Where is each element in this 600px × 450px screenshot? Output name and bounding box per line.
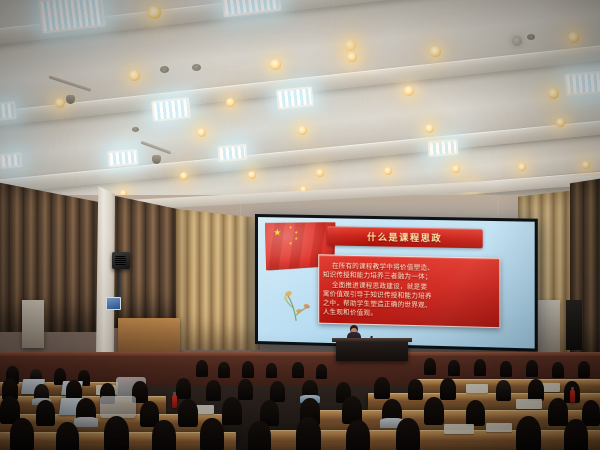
ceiling-downlight [129,70,140,81]
floral-sprig-icon [269,279,323,323]
audience-member [552,362,564,378]
lectern-top-edge [332,338,412,342]
projection-screen[interactable]: ★ ★ ★ ★ ★ 什么是课程思政 在所有的课程教学中将价值塑造、 知识 [255,214,538,352]
audience-member [270,381,285,402]
ceiling-downlight [226,98,235,107]
audience-member [564,419,588,450]
ceiling-downlight [384,167,392,175]
ceiling-downlight [345,40,356,51]
paper-sheet [486,423,512,432]
audience-member [526,360,538,377]
ceiling-panel-light [564,70,600,96]
flag-star-small: ★ [289,241,293,245]
ceiling-downlight [404,86,414,96]
ceiling-downlight [270,59,281,70]
ceiling-panel-light [276,86,314,110]
stage-right-speaker [566,300,582,350]
flag-star-large: ★ [273,228,281,237]
lectern [336,341,408,361]
audience-member [408,379,423,400]
ceiling-downlight [347,52,357,62]
audience-member [10,418,34,450]
stage-side-cabinet [22,300,44,348]
ceiling-downlight [148,6,161,19]
ceiling-downlight [568,32,579,43]
track-light-head [152,155,161,164]
slide-title-ribbon: 什么是课程思政 [327,226,482,248]
ceiling-panel-light [217,144,247,162]
stage-curtain-left-dark [0,182,104,332]
ceiling-downlight [55,98,65,108]
audience-member [196,360,208,377]
paper-sheet [466,384,488,393]
audience-member [36,400,55,426]
ceiling-downlight [518,163,526,171]
paper-sheet [516,399,542,409]
ceiling-downlight [298,126,307,135]
water-bottle [172,395,177,408]
slide-title-text: 什么是课程思政 [367,230,442,245]
audience-member [528,379,544,401]
audience-member [178,399,198,427]
ceiling-downlight [430,46,441,57]
ceiling-vent [132,127,139,132]
ceiling-panel-light [0,152,23,169]
audience-member [222,397,242,425]
audience-member [474,359,486,376]
audience-member [292,362,304,378]
ceiling-panel-light [151,97,191,122]
water-bottle [570,390,575,403]
tote-bag [100,396,136,418]
flag-star-small: ★ [294,230,298,234]
ceiling-downlight-off [512,36,522,46]
ceiling-downlight [452,165,460,173]
ceiling-vent [160,66,169,73]
audience-member [374,377,390,399]
audience-member [466,400,485,426]
ceiling-downlight [548,88,559,99]
audience-member [266,363,277,378]
ceiling-downlight [316,169,324,177]
audience-member [242,361,254,378]
audience-member [440,378,456,400]
audience-member [396,418,420,450]
hall-column [96,186,115,354]
audience-member [448,360,460,376]
paper-sheet [444,424,474,434]
audience-member [200,418,224,450]
ceiling-vent [192,64,201,71]
audience-member [578,361,590,378]
audience-member [316,364,327,379]
audience-member [176,378,191,399]
flag-star-small: ★ [289,225,293,229]
audience-member [152,420,176,450]
stage-right-cabinet [536,300,560,352]
audience-member [296,417,321,450]
lecture-hall-photo: ★ ★ ★ ★ ★ 什么是课程思政 在所有的课程教学中将价值塑造、 知识 [0,0,600,450]
ceiling-downlight [425,124,434,133]
audience-member [248,421,271,450]
audience-member [56,422,79,450]
flag-star-small: ★ [294,236,298,240]
wall-speaker [112,252,130,269]
slide-surface: ★ ★ ★ ★ ★ 什么是课程思政 在所有的课程教学中将价值塑造、 知识 [258,217,535,348]
audience-member [76,398,96,425]
audience-member [218,362,230,378]
ceiling-panel-light [107,149,138,168]
ceiling-downlight [248,171,256,179]
audience-member [548,398,568,426]
ceiling-panel-light [0,101,17,121]
stage-edge-trim [0,352,600,356]
ceiling-downlight [582,161,590,169]
audience-member [104,416,129,450]
audience-member [582,400,600,426]
stage-side-table [118,318,180,352]
audience-member [496,380,511,401]
ceiling-panel-light [427,139,458,157]
ceiling-downlight [180,172,188,180]
audience-member [238,379,253,400]
audience-member [424,358,436,375]
slide-body-box: 在所有的课程教学中将价值塑造、 知识传授和能力培养三者融为一体； 全面推进课程思… [318,254,501,328]
ceiling-vent [527,34,535,40]
track-light-head [66,95,75,104]
blue-wall-sign [106,297,121,310]
audience-member [424,397,444,425]
audience-member [516,416,541,450]
ceiling-downlight [197,128,206,137]
ceiling-downlight [556,118,565,127]
audience-member [206,380,221,401]
audience-member [346,420,370,450]
audience-member [500,361,512,377]
